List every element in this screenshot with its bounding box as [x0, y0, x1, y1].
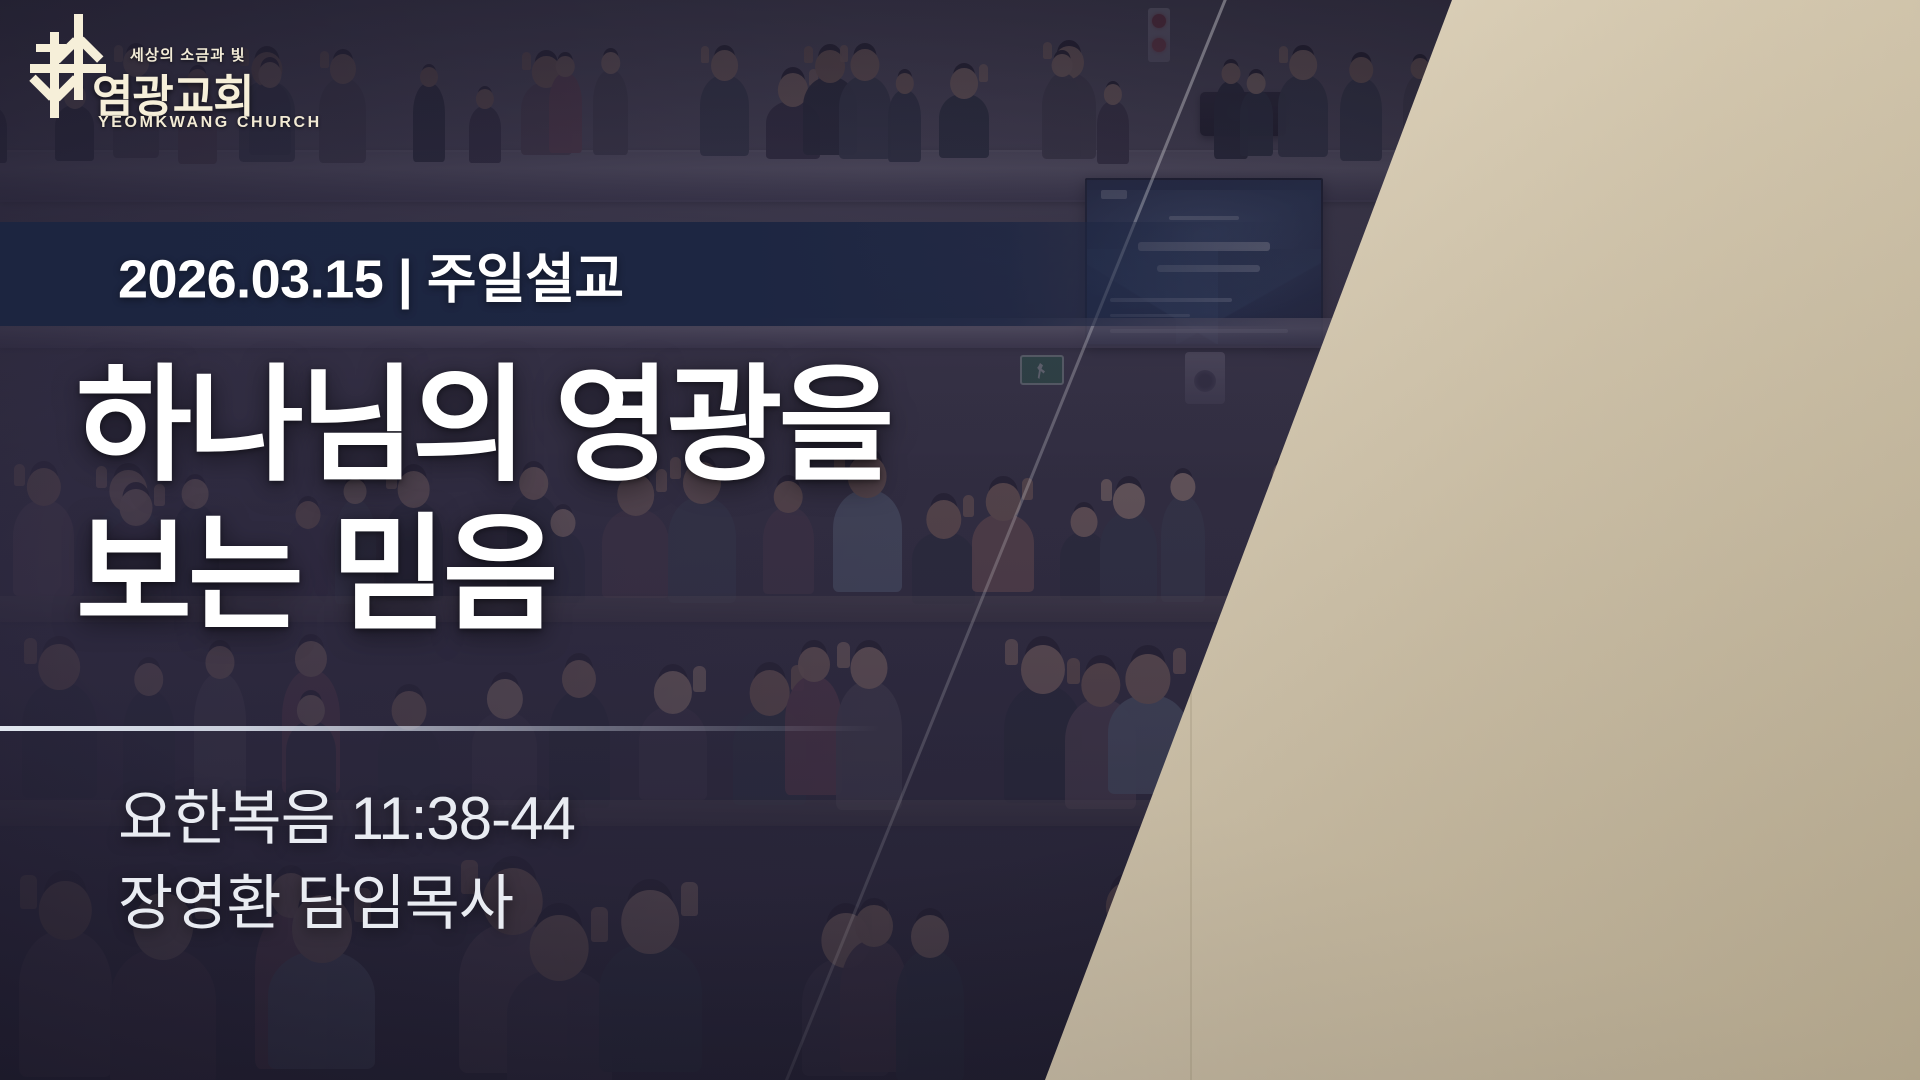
divider-rule [0, 726, 880, 731]
sermon-title: 하나님의 영광을 보는 믿음 [76, 352, 890, 649]
sermon-meta: 요한복음 11:38-44 장영환 담임목사 [118, 776, 575, 946]
logo-name-en: YEOMKWANG CHURCH [98, 114, 322, 132]
sermon-title-card: 세상의 소금과 빛 염광교회 YEOMKWANG CHURCH 2026.03.… [0, 0, 1920, 1080]
date-banner: 2026.03.15 | 주일설교 [0, 222, 1290, 326]
church-logo[interactable]: 세상의 소금과 빛 염광교회 YEOMKWANG CHURCH [22, 14, 234, 132]
date-banner-text: 2026.03.15 | 주일설교 [118, 235, 624, 314]
